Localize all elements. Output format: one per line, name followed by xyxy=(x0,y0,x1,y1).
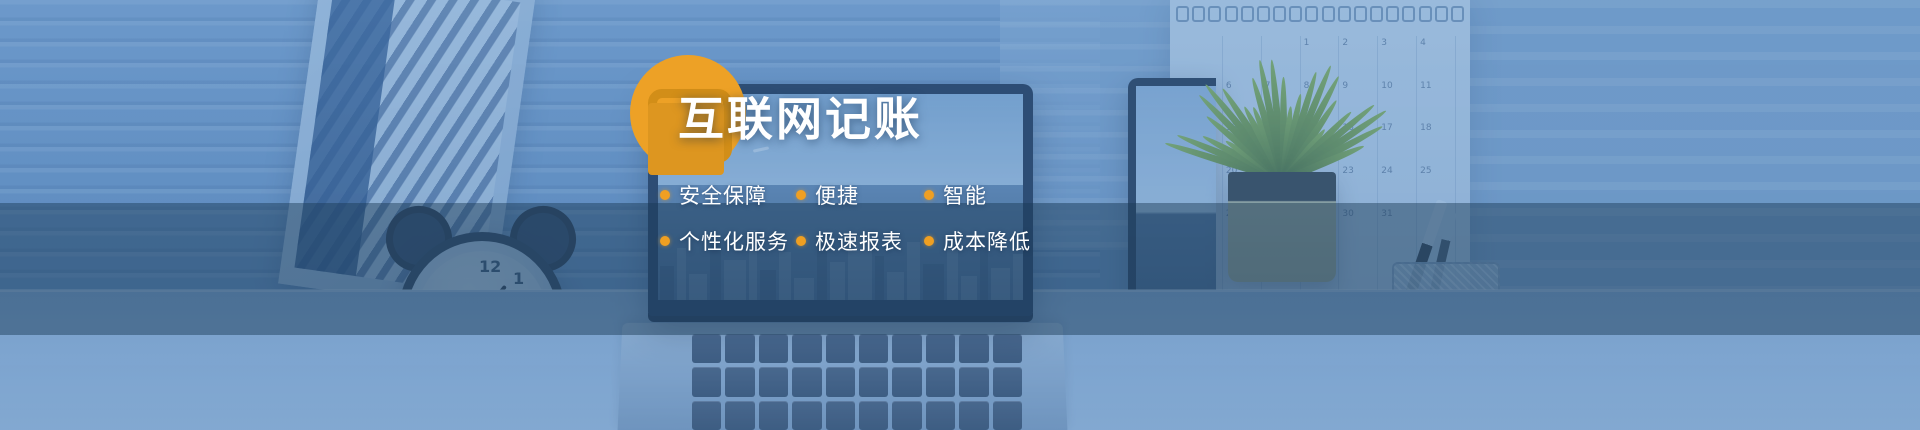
feature-label: 极速报表 xyxy=(815,226,903,256)
bullet-dot-icon xyxy=(924,190,934,200)
feature-label: 便捷 xyxy=(815,180,859,210)
feature-row: 安全保障 便捷 智能 xyxy=(660,180,1080,210)
feature-item-cost-reduction: 成本降低 xyxy=(924,226,1031,256)
feature-label: 个性化服务 xyxy=(679,226,789,256)
bullet-dot-icon xyxy=(924,236,934,246)
bullet-dot-icon xyxy=(660,190,670,200)
feature-item-personalized-service: 个性化服务 xyxy=(660,226,796,256)
bullet-dot-icon xyxy=(796,190,806,200)
feature-row: 个性化服务 极速报表 成本降低 xyxy=(660,226,1080,256)
promo-banner: 1234567891011121314151617181920212223242… xyxy=(0,0,1920,430)
feature-list: 安全保障 便捷 智能 个性化服务 极速报表 xyxy=(660,180,1080,272)
feature-item-security: 安全保障 xyxy=(660,180,796,210)
feature-label: 安全保障 xyxy=(679,180,767,210)
banner-title: 互联网记账 xyxy=(678,96,923,142)
feature-item-intelligent: 智能 xyxy=(924,180,987,210)
bullet-dot-icon xyxy=(660,236,670,246)
bullet-dot-icon xyxy=(796,236,806,246)
feature-item-fast-reports: 极速报表 xyxy=(796,226,924,256)
feature-label: 智能 xyxy=(943,180,987,210)
feature-label: 成本降低 xyxy=(943,226,1031,256)
feature-item-convenient: 便捷 xyxy=(796,180,924,210)
banner-content: 互联网记账 安全保障 便捷 智能 个性化服务 xyxy=(0,0,1920,430)
